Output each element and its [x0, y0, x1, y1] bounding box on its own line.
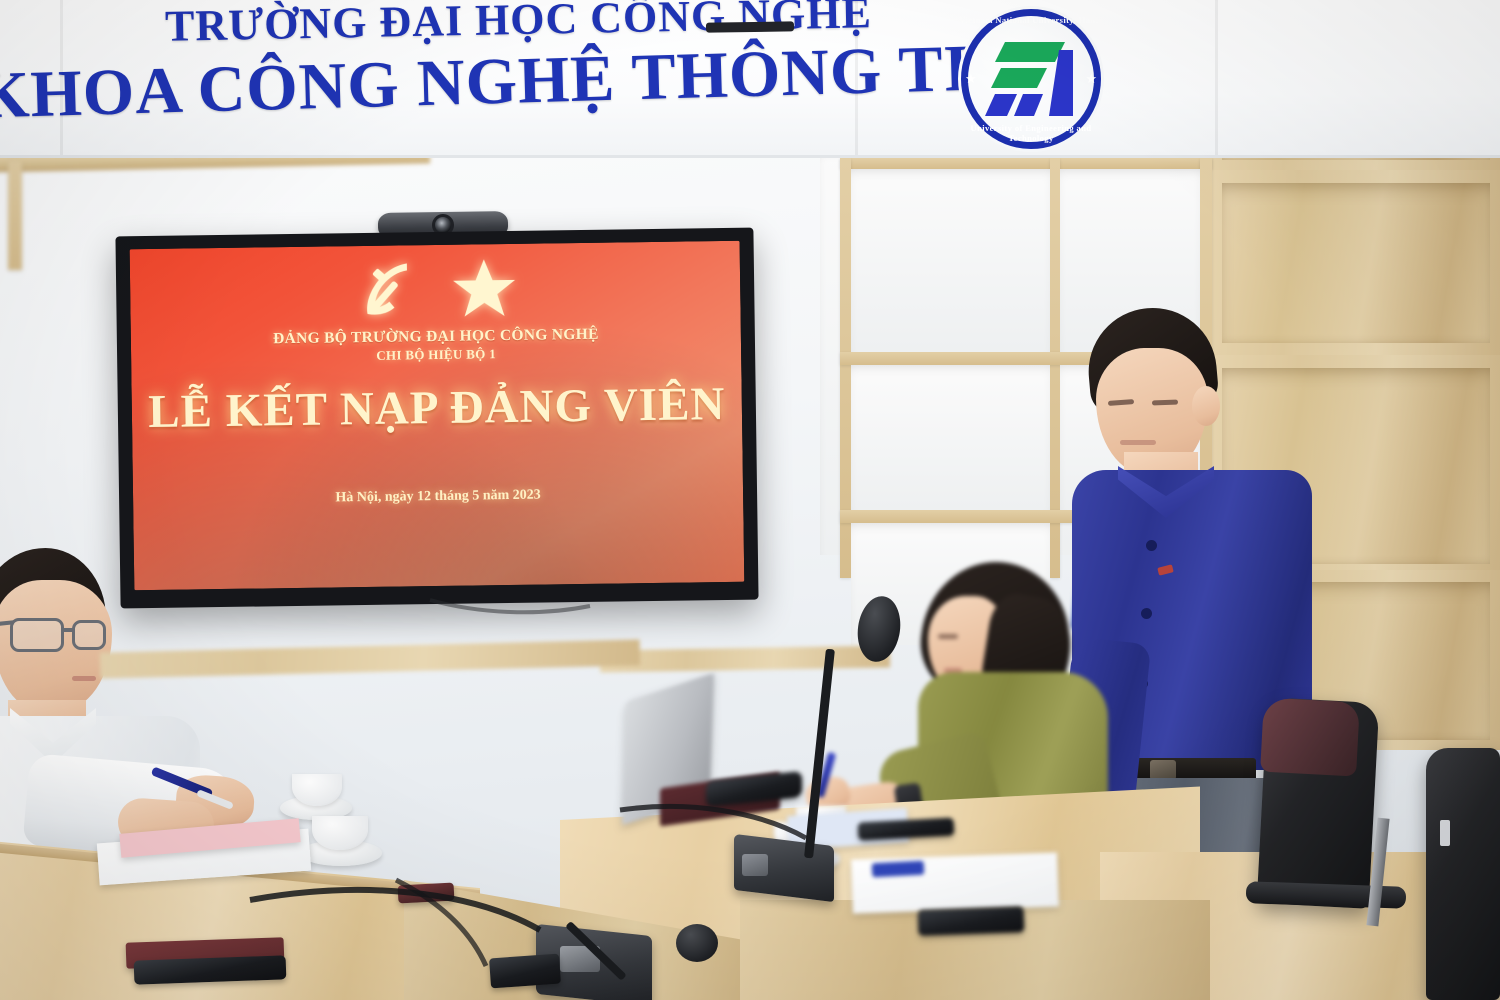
person-eye: [938, 634, 958, 639]
document-heading-mark: [872, 861, 925, 878]
shelf-post-left: [8, 160, 22, 270]
tv-bezel: ĐẢNG BỘ TRƯỜNG ĐẠI HỌC CÔNG NGHỆ CHI BỘ …: [130, 241, 745, 590]
slide-date-line: Hà Nội, ngày 12 tháng 5 năm 2023: [335, 487, 541, 506]
office-chair[interactable]: [1426, 748, 1500, 1000]
chair-headrest: [1260, 698, 1360, 777]
sign-seam: [1215, 0, 1218, 158]
person-mouth: [1120, 440, 1156, 445]
chair-brand-tag: [1440, 820, 1450, 846]
logo-mark-icon: [958, 6, 1104, 152]
slide-organization-line: ĐẢNG BỘ TRƯỜNG ĐẠI HỌC CÔNG NGHỆ: [273, 325, 599, 349]
person-mouth: [72, 676, 96, 681]
wall-television[interactable]: ĐẢNG BỘ TRƯỜNG ĐẠI HỌC CÔNG NGHỆ CHI BỘ …: [115, 228, 758, 609]
person-ear: [1192, 386, 1220, 426]
microphone-head: [676, 924, 718, 962]
document-paper[interactable]: [851, 852, 1059, 913]
hammer-and-sickle-icon: [353, 257, 426, 322]
eyeglasses-lens: [72, 620, 106, 650]
vnu-uet-logo: Vietnam National University, Hanoi Unive…: [958, 6, 1104, 152]
smartphone[interactable]: [398, 883, 455, 904]
slide-emblems: [353, 256, 518, 322]
slide-subunit-line: CHI BỘ HIỆU BỘ 1: [376, 346, 496, 364]
mic-panel: [742, 854, 768, 876]
person-eye: [1152, 400, 1178, 406]
shelf-rail: [840, 158, 1212, 169]
eyeglasses-lens: [10, 618, 64, 652]
smartphone[interactable]: [918, 906, 1025, 936]
shelf-cell: [1222, 183, 1490, 343]
slide-title: LỄ KẾT NẠP ĐẢNG VIÊN: [148, 377, 726, 439]
sign-line-faculty: KHOA CÔNG NGHỆ THÔNG TIN: [0, 29, 1020, 134]
eyeglasses-bridge: [62, 628, 74, 632]
shirt-button: [1141, 608, 1152, 619]
microphone-receiver[interactable]: [489, 954, 561, 989]
shelf-cell: [851, 365, 1050, 510]
shirt-button: [1146, 540, 1157, 551]
camera-mount: [706, 21, 794, 32]
shelf-cell: [851, 169, 1050, 352]
five-pointed-star-icon: [451, 257, 518, 320]
belt-buckle: [1150, 760, 1176, 780]
meeting-room-photo: TRƯỜNG ĐẠI HỌC CÔNG NGHỆ KHOA CÔNG NGHỆ …: [0, 0, 1500, 1000]
